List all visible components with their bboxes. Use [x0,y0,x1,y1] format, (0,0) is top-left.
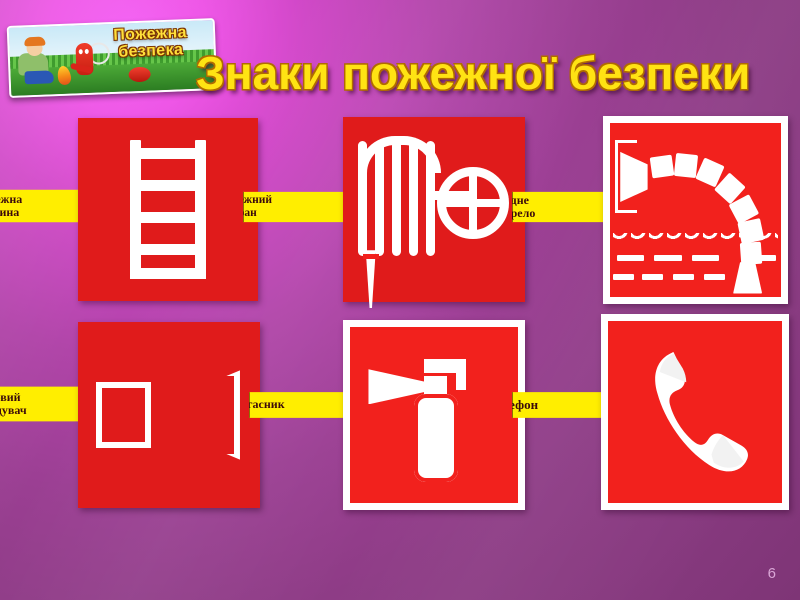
arrow-line-1: Звуковий [0,391,27,404]
valve-wheel-icon [437,167,509,239]
water-source-sign[interactable] [603,116,788,304]
ladder-rung [130,268,206,279]
arrow-line-1: Пожежна [0,193,22,206]
water-dash [654,255,681,261]
fire-ladder-sign[interactable] [78,118,258,301]
hose-segment [740,242,762,266]
fire-safety-logo: Пожежна безпека [7,18,218,98]
telephone-sign[interactable] [601,314,789,510]
page-number: 6 [768,565,776,582]
logo-character-eyes [79,49,83,54]
handset-glyph [638,343,753,481]
ladder-rung [130,180,206,191]
logo-boy-cap [24,37,45,47]
hose-outlet [733,262,762,293]
sound-alarm-icon [78,322,260,508]
sound-alarm-sign[interactable] [78,322,260,508]
water-dash [760,255,775,261]
extinguisher-body [414,394,458,482]
hose-segment [650,155,675,179]
ladder-icon [130,140,206,279]
water-source-icon [610,123,781,297]
hose-reel-icon [343,117,525,302]
arrow-line-2: драбина [0,206,22,219]
alarm-body [96,382,151,449]
fire-hose-reel-sign[interactable] [343,117,525,302]
ladder-rung [130,212,206,223]
hose-nozzle-band [363,254,379,259]
fire-extinguisher-icon [350,327,518,503]
water-wave [613,233,777,243]
alarm-horn [145,370,240,459]
arrow-line-2: оповіщувач [0,404,27,417]
presentation-slide: Пожежна безпека Знаки пожежної безпеки П… [0,0,800,600]
ladder-rail-left [130,140,141,279]
hose-segment [674,153,698,178]
fire-extinguisher-sign[interactable] [343,320,525,510]
water-dash [642,274,663,280]
water-dash [617,255,644,261]
water-dash [692,255,719,261]
telephone-icon [608,321,782,503]
logo-text: Пожежна безпека [87,24,214,62]
water-dash [704,274,725,280]
page-title: Знаки пожежної безпеки [196,42,796,104]
ladder-rung [130,148,206,159]
water-dash [613,274,634,280]
ladder-rung [130,244,206,255]
extinguisher-handle-arm [456,359,466,391]
logo-boy-legs [24,70,53,84]
ladder-rail-right [195,140,206,279]
water-dash [673,274,694,280]
